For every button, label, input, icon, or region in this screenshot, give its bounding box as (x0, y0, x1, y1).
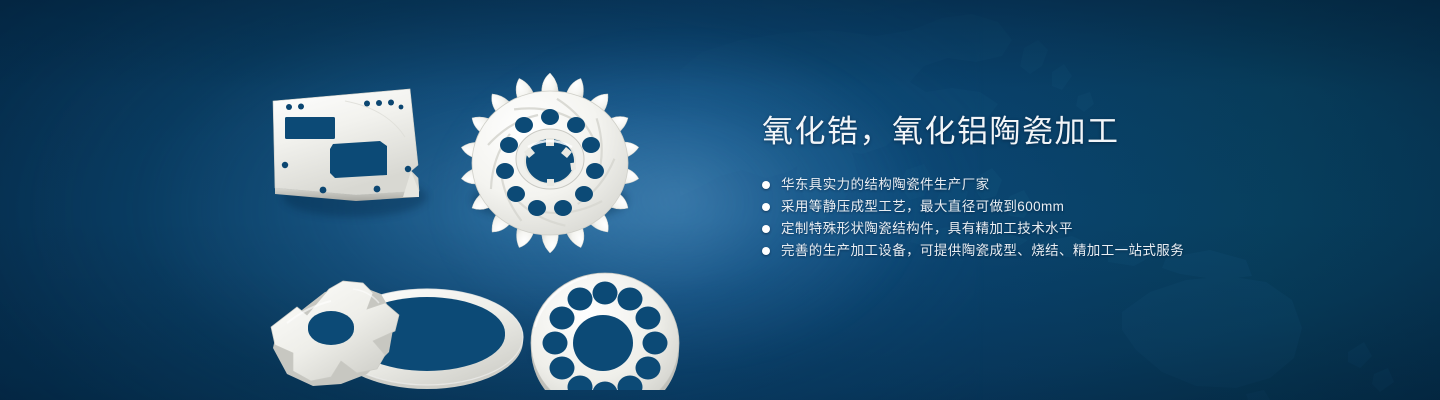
product-photo (215, 45, 715, 390)
hero-banner: 氧化锆，氧化铝陶瓷加工 华东具实力的结构陶瓷件生产厂家 采用等静压成型工艺，最大… (0, 0, 1440, 400)
bullet-dot-icon (762, 181, 770, 189)
list-item: 定制特殊形状陶瓷结构件，具有精加工技术水平 (762, 218, 1382, 240)
list-item-label: 采用等静压成型工艺，最大直径可做到600mm (781, 196, 1064, 218)
banner-copy: 氧化锆，氧化铝陶瓷加工 华东具实力的结构陶瓷件生产厂家 采用等静压成型工艺，最大… (762, 112, 1382, 262)
list-item-label: 华东具实力的结构陶瓷件生产厂家 (781, 174, 990, 196)
feature-list: 华东具实力的结构陶瓷件生产厂家 采用等静压成型工艺，最大直径可做到600mm 定… (762, 174, 1382, 262)
bullet-dot-icon (762, 247, 770, 255)
list-item: 完善的生产加工设备，可提供陶瓷成型、烧结、精加工一站式服务 (762, 240, 1382, 262)
ceramic-perforated-disc-shape (531, 273, 679, 390)
list-item: 华东具实力的结构陶瓷件生产厂家 (762, 174, 1382, 196)
bullet-dot-icon (762, 225, 770, 233)
list-item: 采用等静压成型工艺，最大直径可做到600mm (762, 196, 1382, 218)
list-item-label: 完善的生产加工设备，可提供陶瓷成型、烧结、精加工一站式服务 (781, 240, 1184, 262)
ceramic-plate-shape (273, 89, 419, 201)
bullet-dot-icon (762, 203, 770, 211)
ceramic-impeller-shape (460, 73, 640, 253)
list-item-label: 定制特殊形状陶瓷结构件，具有精加工技术水平 (781, 218, 1073, 240)
page-title: 氧化锆，氧化铝陶瓷加工 (762, 112, 1382, 152)
